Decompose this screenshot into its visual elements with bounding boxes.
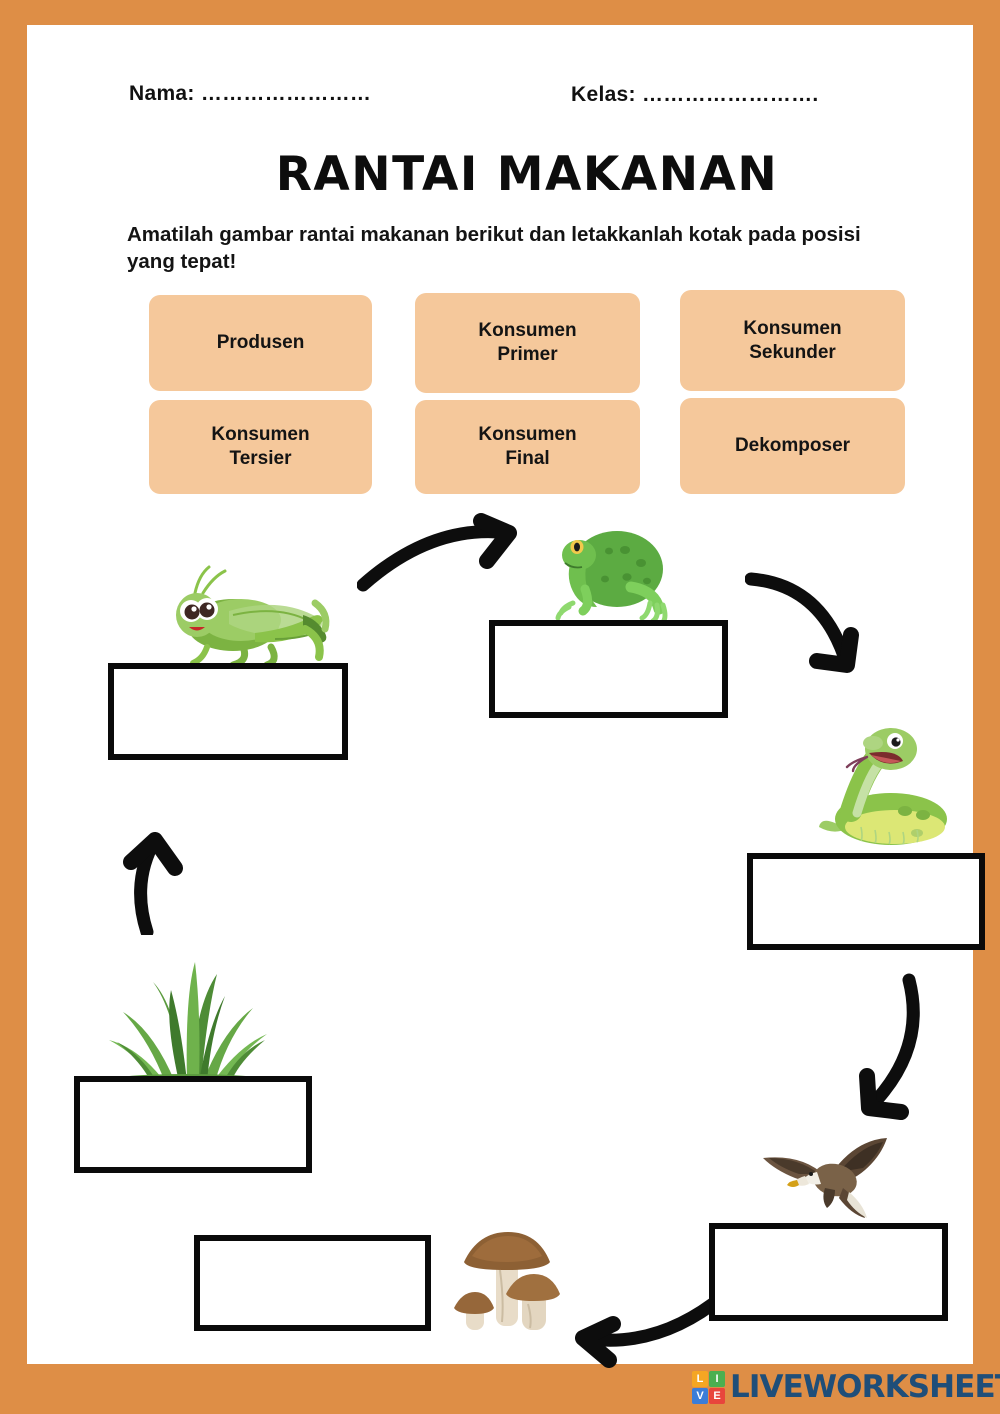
chip-label: Konsumen Tersier — [211, 423, 309, 471]
liveworksheets-logo: L I V E LIVEWORKSHEETS — [692, 1369, 1000, 1405]
answer-box-mushroom[interactable] — [194, 1235, 431, 1331]
chip-label: Konsumen Final — [478, 423, 576, 471]
answer-box-frog[interactable] — [489, 620, 728, 718]
frog-icon — [539, 517, 679, 627]
arrow-snake-to-eagle — [833, 970, 958, 1130]
chip-konsumen-sekunder[interactable]: Konsumen Sekunder — [680, 290, 905, 391]
snake-icon — [817, 715, 957, 855]
chip-label: Produsen — [217, 331, 305, 355]
arrow-grasshopper-to-frog — [357, 503, 542, 598]
chip-konsumen-tersier[interactable]: Konsumen Tersier — [149, 400, 372, 494]
logo-tile-v: V — [692, 1388, 708, 1404]
chip-label: Dekomposer — [735, 434, 850, 458]
logo-tile-l: L — [692, 1371, 708, 1387]
arrow-grass-to-grasshopper — [105, 790, 220, 935]
logo-wordmark: LIVEWORKSHEETS — [730, 1369, 1000, 1405]
answer-box-grass[interactable] — [74, 1076, 312, 1173]
page-title: RANTAI MAKANAN — [27, 147, 1000, 202]
grasshopper-icon — [155, 563, 360, 673]
chip-dekomposer[interactable]: Dekomposer — [680, 398, 905, 494]
arrow-frog-to-snake — [745, 565, 880, 705]
answer-box-snake[interactable] — [747, 853, 985, 950]
kelas-field-label[interactable]: Kelas: ……………………. — [571, 83, 819, 107]
chip-konsumen-final[interactable]: Konsumen Final — [415, 400, 640, 494]
worksheet-sheet: Nama: …………………… Kelas: ……………………. RANTAI M… — [27, 25, 973, 1364]
worksheet-page: Nama: …………………… Kelas: ……………………. RANTAI M… — [0, 0, 1000, 1414]
instructions-text: Amatilah gambar rantai makanan berikut d… — [127, 221, 897, 275]
chip-label: Konsumen Primer — [478, 319, 576, 367]
logo-tile-i: I — [709, 1371, 725, 1387]
logo-tiles: L I V E — [692, 1371, 725, 1404]
chip-label: Konsumen Sekunder — [743, 317, 841, 365]
chip-konsumen-primer[interactable]: Konsumen Primer — [415, 293, 640, 393]
answer-box-grasshopper[interactable] — [108, 663, 348, 760]
answer-box-eagle[interactable] — [709, 1223, 948, 1321]
logo-tile-e: E — [709, 1388, 725, 1404]
grass-icon — [87, 940, 287, 1085]
arrow-eagle-to-mushroom — [555, 1290, 730, 1375]
mushroom-icon — [452, 1222, 572, 1337]
nama-field-label[interactable]: Nama: …………………… — [129, 82, 371, 106]
chip-produsen[interactable]: Produsen — [149, 295, 372, 391]
